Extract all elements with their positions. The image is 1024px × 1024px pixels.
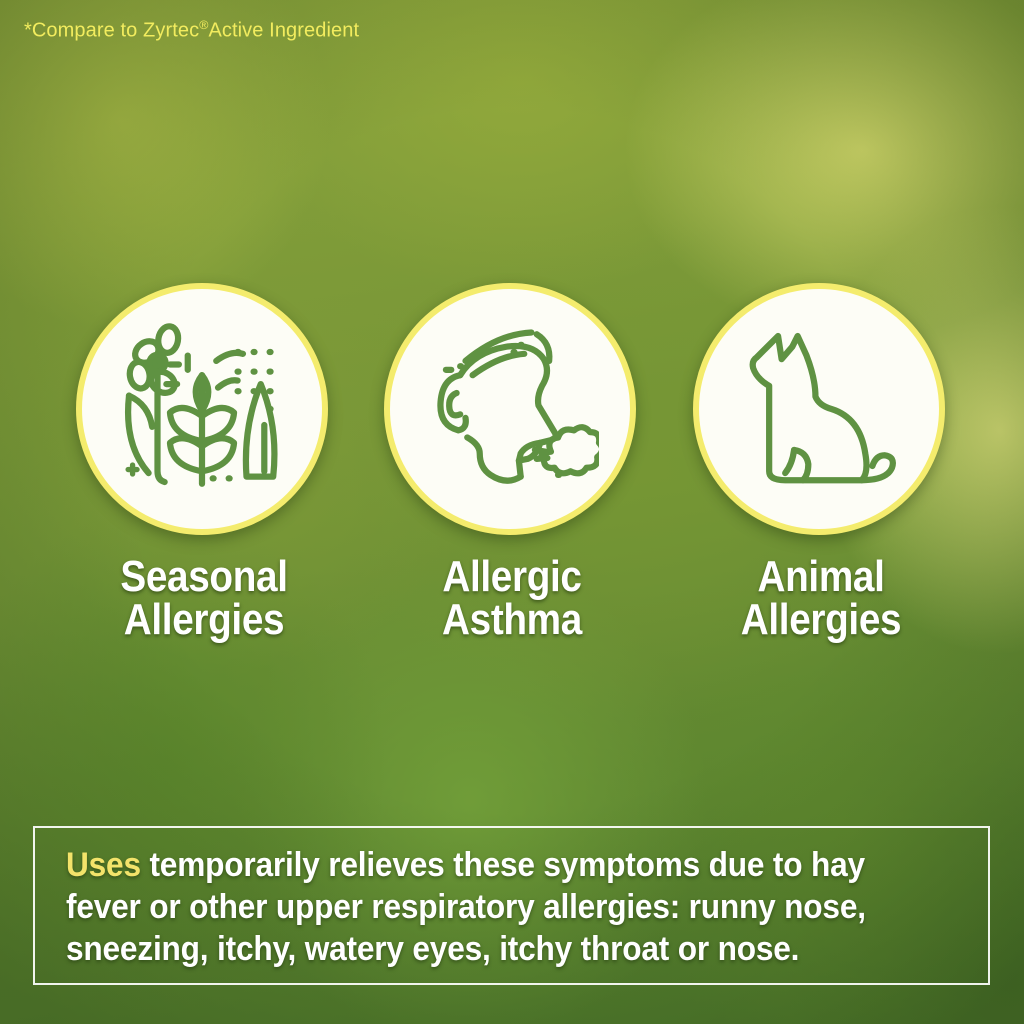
pollen-plants-icon xyxy=(113,320,291,498)
card-label: Seasonal Allergies xyxy=(91,555,316,641)
card-allergic-asthma[interactable]: Allergic Asthma xyxy=(384,283,640,641)
uses-callout-box: Uses temporarily relieves these symptoms… xyxy=(33,826,990,985)
card-label-line1: Animal xyxy=(758,552,885,601)
product-feature-panel: *Compare to Zyrtec®Active Ingredient xyxy=(0,0,1024,1024)
compare-note: *Compare to Zyrtec®Active Ingredient xyxy=(24,18,359,43)
sneezing-face-icon xyxy=(421,320,599,498)
card-icon-circle xyxy=(76,283,328,535)
card-label-line2: Allergies xyxy=(91,598,316,641)
compare-note-prefix: *Compare to Zyrtec xyxy=(24,20,199,42)
card-label-line2: Asthma xyxy=(399,598,624,641)
card-icon-circle xyxy=(693,283,945,535)
card-seasonal-allergies[interactable]: Seasonal Allergies xyxy=(76,283,332,641)
card-label-line1: Seasonal xyxy=(120,552,287,601)
card-label: Allergic Asthma xyxy=(399,555,624,641)
uses-keyword: Uses xyxy=(66,846,141,884)
card-icon-circle xyxy=(384,283,636,535)
compare-note-suffix: Active Ingredient xyxy=(208,20,359,42)
card-label-line2: Allergies xyxy=(708,598,933,641)
sitting-dog-icon xyxy=(730,320,908,498)
uses-body: temporarily relieves these symptoms due … xyxy=(66,846,866,968)
uses-text: Uses temporarily relieves these symptoms… xyxy=(66,844,903,970)
card-label-line1: Allergic xyxy=(442,552,581,601)
card-animal-allergies[interactable]: Animal Allergies xyxy=(693,283,949,641)
card-label: Animal Allergies xyxy=(708,555,933,641)
